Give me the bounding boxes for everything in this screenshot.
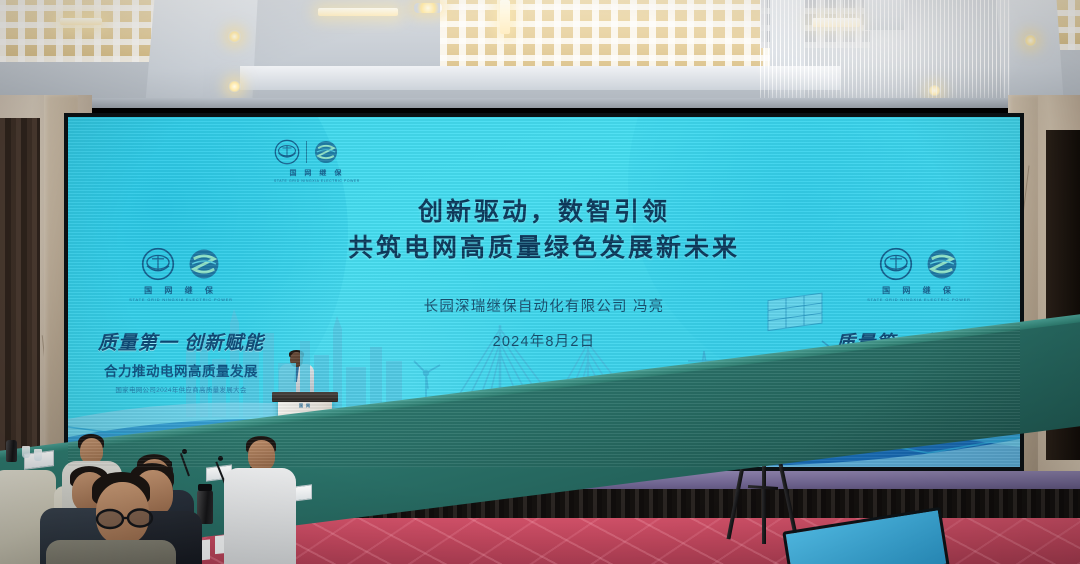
banner-right-logo-cn: 国 网 继 保 — [814, 285, 1020, 296]
ceiling-downlight — [228, 80, 241, 93]
ceiling-strip-light — [318, 8, 398, 16]
banner-left-subhead: 合力推动电网高质量发展 — [76, 360, 286, 380]
microphone-head — [218, 456, 223, 461]
ceiling-coffer — [0, 0, 160, 62]
banner-left-headline: 质量第一 创新赋能 — [76, 328, 286, 355]
crystal-chandelier — [760, 0, 1010, 108]
ceiling-strip-light — [60, 18, 102, 25]
state-grid-emblem-icon — [274, 139, 300, 165]
ceiling-downlight — [228, 30, 241, 43]
ceiling-downlight — [414, 3, 442, 13]
thermos-cap — [198, 484, 212, 491]
attendee-body — [224, 468, 296, 564]
banner-left-logo-en: STATE GRID NINGXIA ELECTRIC POWER — [76, 298, 286, 302]
ceiling-lower-rail — [0, 98, 1080, 108]
microphone-head — [182, 449, 187, 454]
swirl-globe-emblem-icon — [187, 247, 221, 281]
swirl-globe-emblem-icon — [925, 247, 959, 281]
banner-right-logo-en: STATE GRID NINGXIA ELECTRIC POWER — [814, 298, 1020, 302]
eyeglasses-icon — [95, 508, 155, 530]
water-glass — [34, 449, 42, 461]
ceiling-strip-light — [500, 0, 510, 34]
podium-top-desk — [272, 392, 338, 402]
state-grid-emblem-icon — [141, 247, 175, 281]
ceiling-lattice-pattern — [0, 0, 160, 62]
thermos-flask — [6, 440, 17, 462]
screen-top-logo: 国 网 继 保 STATE GRID NINGXIA ELECTRIC POWE… — [274, 139, 360, 183]
logo-divider — [306, 141, 307, 163]
podium-logo: 国 网 — [278, 403, 332, 409]
ceiling — [0, 0, 1080, 108]
state-grid-emblem-icon — [879, 247, 913, 281]
swirl-globe-emblem-icon — [313, 139, 339, 165]
screen-logo-name-en: STATE GRID NINGXIA ELECTRIC POWER — [274, 179, 360, 183]
conference-hall-scene: 国 网 继 保 STATE GRID NINGXIA ELECTRIC POWE… — [0, 0, 1080, 564]
banner-left-footline: 国家电网公司2024年供应商高质量发展大会 — [76, 384, 286, 394]
screen-logo-name-cn: 国 网 继 保 — [274, 168, 360, 178]
water-glass — [22, 446, 30, 458]
attendee-body — [46, 540, 176, 564]
screen-banner-left: 国 网 继 保 STATE GRID NINGXIA ELECTRIC POWE… — [76, 247, 286, 394]
title-line-1: 创新驱动，数智引领 — [68, 195, 1020, 231]
attendee-head — [248, 440, 275, 471]
banner-right-logo — [814, 247, 1020, 281]
banner-left-logo — [76, 247, 286, 281]
banner-left-logo-cn: 国 网 继 保 — [76, 285, 286, 296]
